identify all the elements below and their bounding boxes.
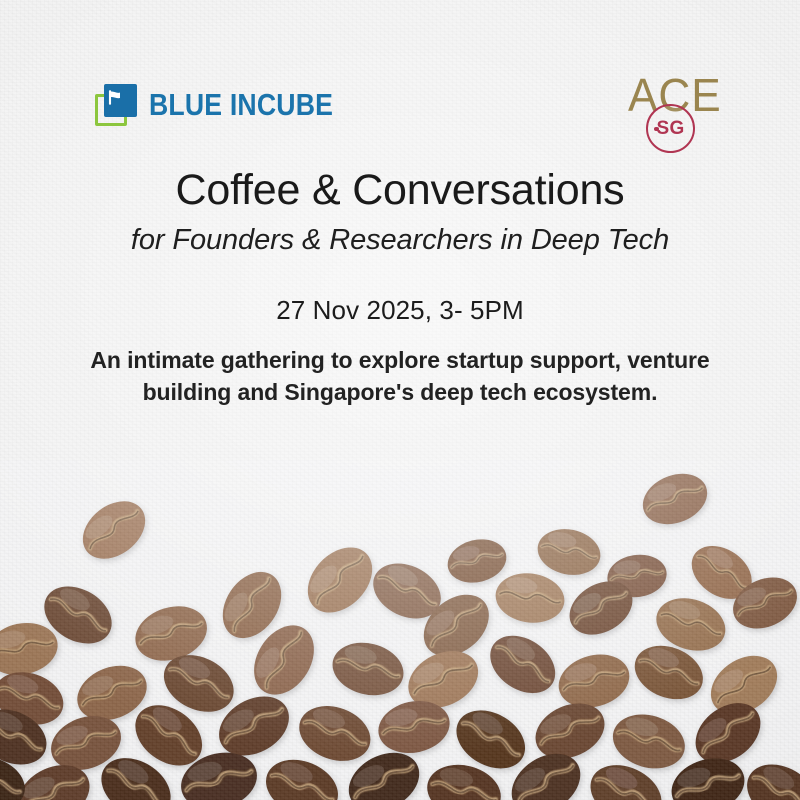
sg-badge-label: SG (656, 119, 684, 138)
sg-badge-icon: SG (646, 104, 695, 153)
event-poster: BLUE INCUBE ACE SG Coffee & Conversation… (0, 0, 800, 800)
coffee-beans-image (0, 460, 800, 800)
badge-dot-icon (654, 127, 659, 132)
poster-copy: Coffee & Conversations for Founders & Re… (0, 166, 800, 408)
brand-wordmark: BLUE INCUBE (149, 87, 333, 123)
event-description: An intimate gathering to explore startup… (80, 344, 720, 408)
ace-sg-logo: ACE SG (628, 68, 738, 153)
blue-incube-logo: BLUE INCUBE (95, 84, 363, 126)
poster-header: BLUE INCUBE ACE SG (0, 0, 800, 170)
event-title: Coffee & Conversations (0, 166, 800, 214)
event-datetime: 27 Nov 2025, 3- 5PM (0, 295, 800, 326)
event-subtitle: for Founders & Researchers in Deep Tech (0, 223, 800, 258)
layered-squares-flag-icon (95, 84, 137, 126)
